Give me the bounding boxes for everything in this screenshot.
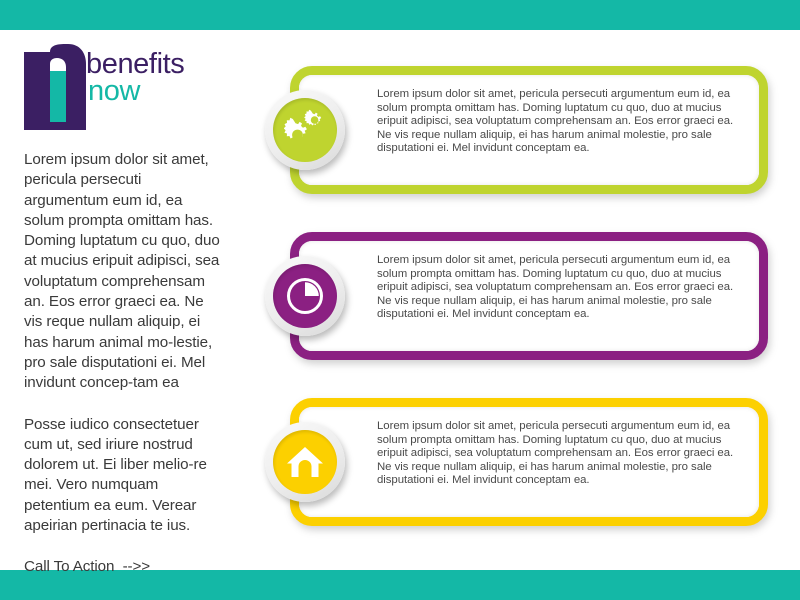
infographic-page: benefits now Lorem ipsum dolor sit amet,… bbox=[0, 0, 800, 600]
logo-line-benefits: benefits bbox=[86, 51, 184, 78]
card-body-text: Lorem ipsum dolor sit amet, pericula per… bbox=[377, 254, 743, 322]
card-badge-home[interactable] bbox=[265, 422, 345, 502]
n-logo-mark-icon bbox=[24, 44, 86, 130]
gears-icon bbox=[284, 109, 326, 151]
card-badge-clock[interactable] bbox=[265, 256, 345, 336]
sidebar-paragraph-2: Posse iudico consectetuer cum ut, sed ir… bbox=[24, 415, 224, 537]
home-icon bbox=[285, 442, 325, 482]
feature-card-clock[interactable]: Lorem ipsum dolor sit amet, pericula per… bbox=[290, 232, 768, 360]
logo-wordmark: benefits now bbox=[86, 51, 184, 104]
feature-card-home[interactable]: Lorem ipsum dolor sit amet, pericula per… bbox=[290, 398, 768, 526]
badge-disc bbox=[273, 430, 337, 494]
badge-disc bbox=[273, 264, 337, 328]
brand-logo[interactable]: benefits now bbox=[24, 42, 234, 132]
card-inner-surface: Lorem ipsum dolor sit amet, pericula per… bbox=[299, 75, 759, 185]
card-inner-surface: Lorem ipsum dolor sit amet, pericula per… bbox=[299, 407, 759, 517]
card-inner-surface: Lorem ipsum dolor sit amet, pericula per… bbox=[299, 241, 759, 351]
left-column: benefits now Lorem ipsum dolor sit amet,… bbox=[24, 42, 254, 577]
feature-card-gears[interactable]: Lorem ipsum dolor sit amet, pericula per… bbox=[290, 66, 768, 194]
top-banner-bar bbox=[0, 0, 800, 30]
card-badge-gears[interactable] bbox=[265, 90, 345, 170]
badge-disc bbox=[273, 98, 337, 162]
pie-clock-icon bbox=[284, 275, 326, 317]
logo-line-now: now bbox=[88, 78, 184, 105]
call-to-action-link[interactable]: Call To Action -->> bbox=[24, 557, 254, 577]
card-body-text: Lorem ipsum dolor sit amet, pericula per… bbox=[377, 420, 743, 488]
card-body-text: Lorem ipsum dolor sit amet, pericula per… bbox=[377, 88, 743, 156]
sidebar-paragraph-1: Lorem ipsum dolor sit amet, pericula per… bbox=[24, 150, 224, 394]
